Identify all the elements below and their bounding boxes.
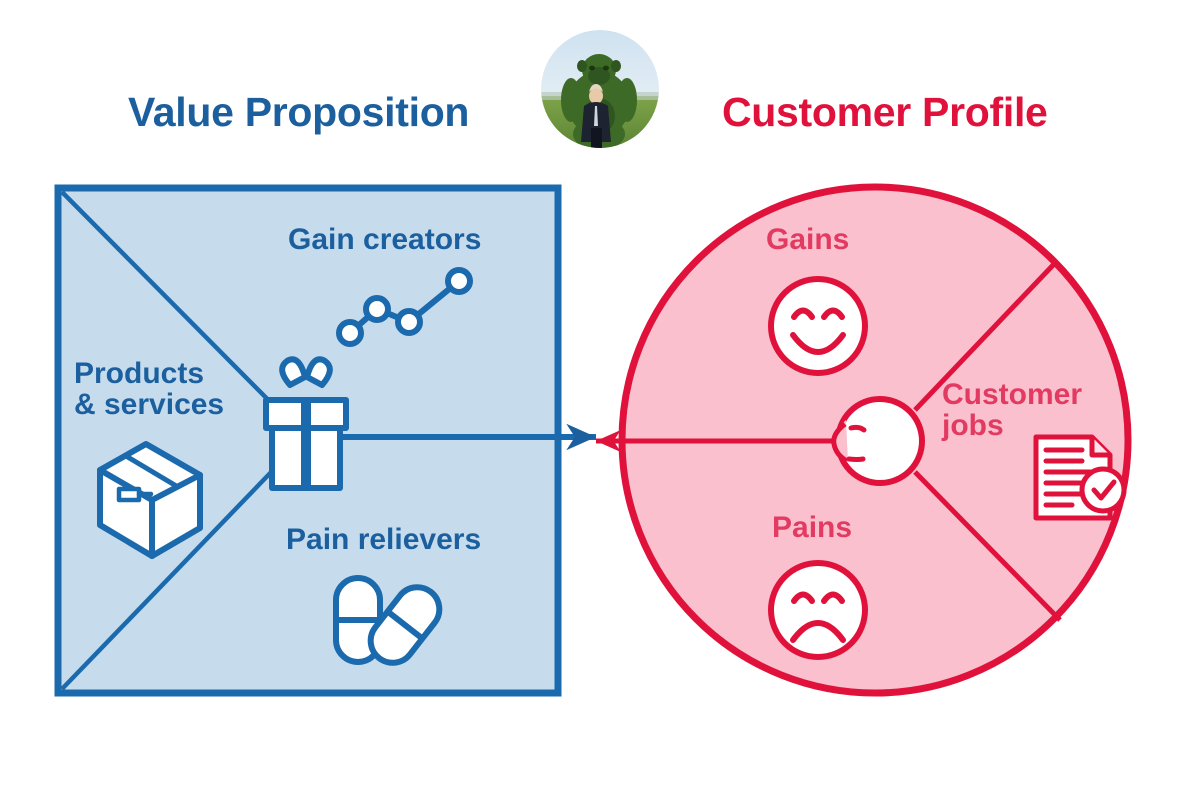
label-pains: Pains bbox=[772, 512, 852, 543]
customer-mouth bbox=[849, 459, 863, 460]
gift-bow-right bbox=[307, 359, 330, 385]
customer-eye bbox=[851, 427, 864, 430]
happy-face-icon bbox=[771, 279, 865, 373]
label-gain-creators: Gain creators bbox=[288, 224, 481, 255]
label-products-services: Products & services bbox=[74, 358, 274, 420]
gift-bow-left bbox=[282, 359, 305, 385]
sad-face-icon bbox=[771, 563, 865, 657]
value-proposition-canvas-diagram: Value Proposition Customer Profile bbox=[0, 0, 1200, 801]
label-pain-relievers: Pain relievers bbox=[286, 524, 481, 555]
label-gains: Gains bbox=[766, 224, 849, 255]
label-customer-jobs: Customer jobs bbox=[942, 379, 1117, 441]
customer-head-icon bbox=[834, 399, 922, 483]
